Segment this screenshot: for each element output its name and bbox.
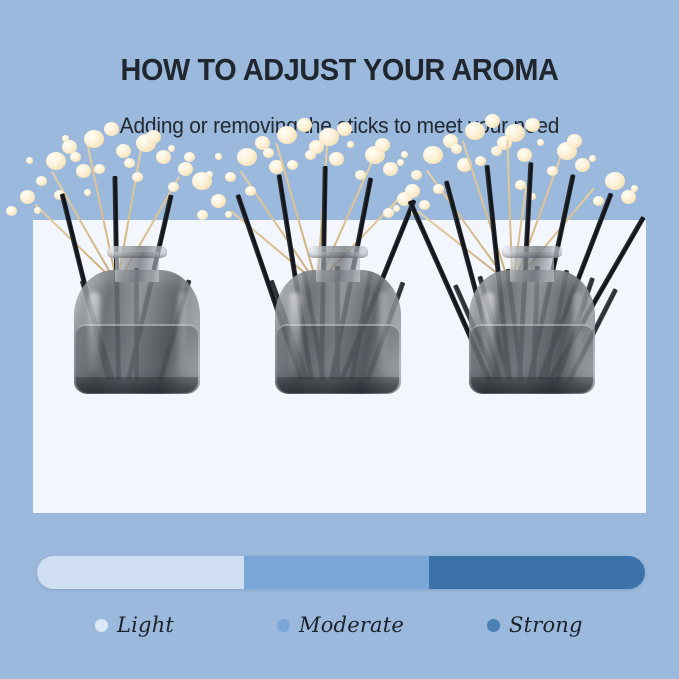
legend-dot-strong-icon (487, 619, 500, 632)
legend-item-moderate: Moderate (277, 608, 404, 642)
intensity-legend: Light Moderate Strong (37, 608, 645, 642)
intensity-bar (37, 556, 645, 589)
legend-item-light: Light (95, 608, 174, 642)
intensity-segment-moderate (244, 556, 429, 589)
legend-dot-light-icon (95, 619, 108, 632)
legend-label-strong: Strong (509, 613, 583, 637)
legend-label-light: Light (117, 613, 174, 637)
intensity-segment-light (37, 556, 244, 589)
aroma-infographic: HOW TO ADJUST YOUR AROMA Adding or remov… (0, 0, 679, 679)
page-subtitle: Adding or removing the sticks to meet yo… (17, 113, 662, 139)
legend-dot-moderate-icon (277, 619, 290, 632)
intensity-segment-strong (429, 556, 645, 589)
product-photo-panel (33, 220, 646, 513)
legend-item-strong: Strong (487, 608, 583, 642)
page-title: HOW TO ADJUST YOUR AROMA (24, 52, 655, 88)
legend-label-moderate: Moderate (299, 613, 404, 637)
